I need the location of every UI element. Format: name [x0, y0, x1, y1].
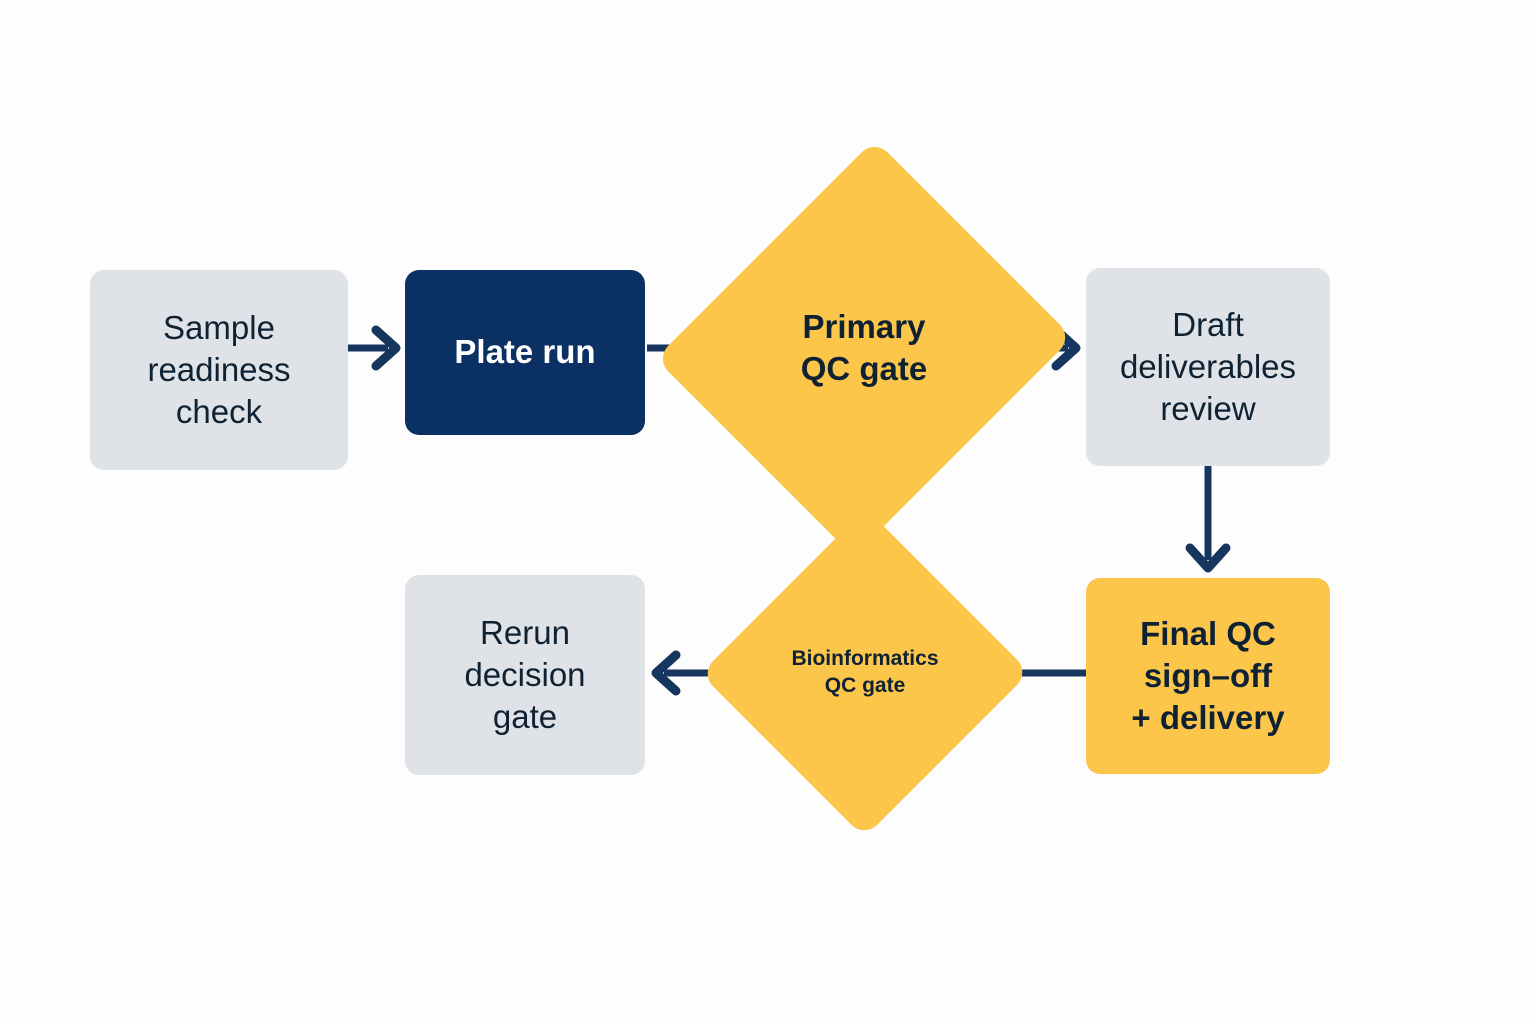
node-label: Draft deliverables review [1120, 304, 1296, 431]
edge-draft-to-final [1190, 466, 1226, 568]
node-label: Primary QC gate [801, 306, 928, 390]
flowchart-canvas: Sample readiness check Plate run Primary… [0, 0, 1536, 1024]
node-label: Sample readiness check [147, 307, 290, 434]
node-rerun-decision-gate[interactable]: Rerun decision gate [405, 575, 645, 775]
node-label: Bioinformatics QC gate [791, 646, 938, 700]
edge-sample-to-plate [348, 330, 396, 366]
node-label: Rerun decision gate [464, 612, 585, 739]
arrowhead-down-icon [1190, 548, 1226, 568]
node-final-qc-signoff-delivery[interactable]: Final QC sign–off + delivery [1086, 578, 1330, 774]
node-plate-run[interactable]: Plate run [405, 270, 645, 435]
arrowhead-left-icon [656, 655, 676, 691]
node-label: Final QC sign–off + delivery [1131, 613, 1284, 740]
node-label: Plate run [454, 331, 595, 373]
edge-layer [0, 0, 1536, 1024]
node-bioinformatics-qc-gate[interactable]: Bioinformatics QC gate [749, 556, 981, 790]
node-draft-deliverables-review[interactable]: Draft deliverables review [1086, 268, 1330, 466]
node-primary-qc-gate[interactable]: Primary QC gate [724, 193, 1004, 503]
node-sample-readiness-check[interactable]: Sample readiness check [90, 270, 348, 470]
arrowhead-right-icon [376, 330, 396, 366]
